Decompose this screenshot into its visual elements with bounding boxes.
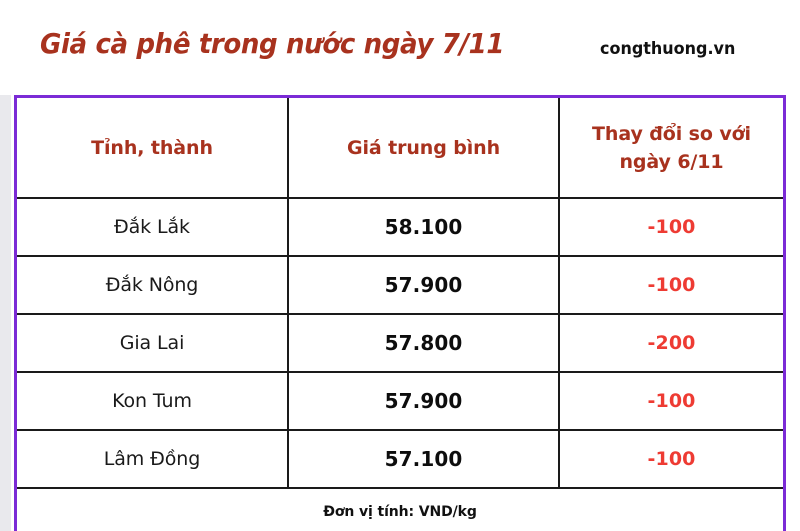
table-footer-row: Đơn vị tính: VND/kg bbox=[17, 488, 783, 531]
cell-province: Lâm Đồng bbox=[17, 430, 288, 488]
table-row: Kon Tum 57.900 -100 bbox=[17, 372, 783, 430]
cell-price: 57.900 bbox=[288, 372, 559, 430]
cell-change: -100 bbox=[559, 256, 783, 314]
unit-note: Đơn vị tính: VND/kg bbox=[17, 488, 783, 531]
cell-price: 57.900 bbox=[288, 256, 559, 314]
column-header-price: Giá trung bình bbox=[288, 98, 559, 198]
table-row: Lâm Đồng 57.100 -100 bbox=[17, 430, 783, 488]
cell-change: -100 bbox=[559, 372, 783, 430]
column-header-province: Tỉnh, thành bbox=[17, 98, 288, 198]
header-band: Giá cà phê trong nước ngày 7/11 congthuo… bbox=[0, 0, 800, 95]
cell-province: Kon Tum bbox=[17, 372, 288, 430]
cell-province: Đắk Lắk bbox=[17, 198, 288, 256]
column-header-change-line2: ngày 6/11 bbox=[619, 151, 723, 173]
table-row: Đắk Lắk 58.100 -100 bbox=[17, 198, 783, 256]
coffee-price-infographic: Giá cà phê trong nước ngày 7/11 congthuo… bbox=[0, 0, 800, 531]
table-body: Đắk Lắk 58.100 -100 Đắk Nông 57.900 -100… bbox=[17, 198, 783, 531]
cell-change: -200 bbox=[559, 314, 783, 372]
page-title: Giá cà phê trong nước ngày 7/11 bbox=[40, 26, 504, 62]
cell-price: 57.100 bbox=[288, 430, 559, 488]
site-watermark: congthuong.vn bbox=[600, 38, 735, 60]
cell-price: 58.100 bbox=[288, 198, 559, 256]
table-row: Gia Lai 57.800 -200 bbox=[17, 314, 783, 372]
coffee-price-table: Tỉnh, thành Giá trung bình Thay đổi so v… bbox=[17, 98, 783, 531]
cell-province: Đắk Nông bbox=[17, 256, 288, 314]
table-header: Tỉnh, thành Giá trung bình Thay đổi so v… bbox=[17, 98, 783, 198]
cell-province: Gia Lai bbox=[17, 314, 288, 372]
cell-change: -100 bbox=[559, 198, 783, 256]
price-table-frame: Tỉnh, thành Giá trung bình Thay đổi so v… bbox=[14, 95, 786, 531]
table-row: Đắk Nông 57.900 -100 bbox=[17, 256, 783, 314]
table-header-row: Tỉnh, thành Giá trung bình Thay đổi so v… bbox=[17, 98, 783, 198]
column-header-change-line1: Thay đổi so với bbox=[592, 123, 751, 145]
cell-price: 57.800 bbox=[288, 314, 559, 372]
cell-change: -100 bbox=[559, 430, 783, 488]
column-header-change: Thay đổi so với ngày 6/11 bbox=[559, 98, 783, 198]
